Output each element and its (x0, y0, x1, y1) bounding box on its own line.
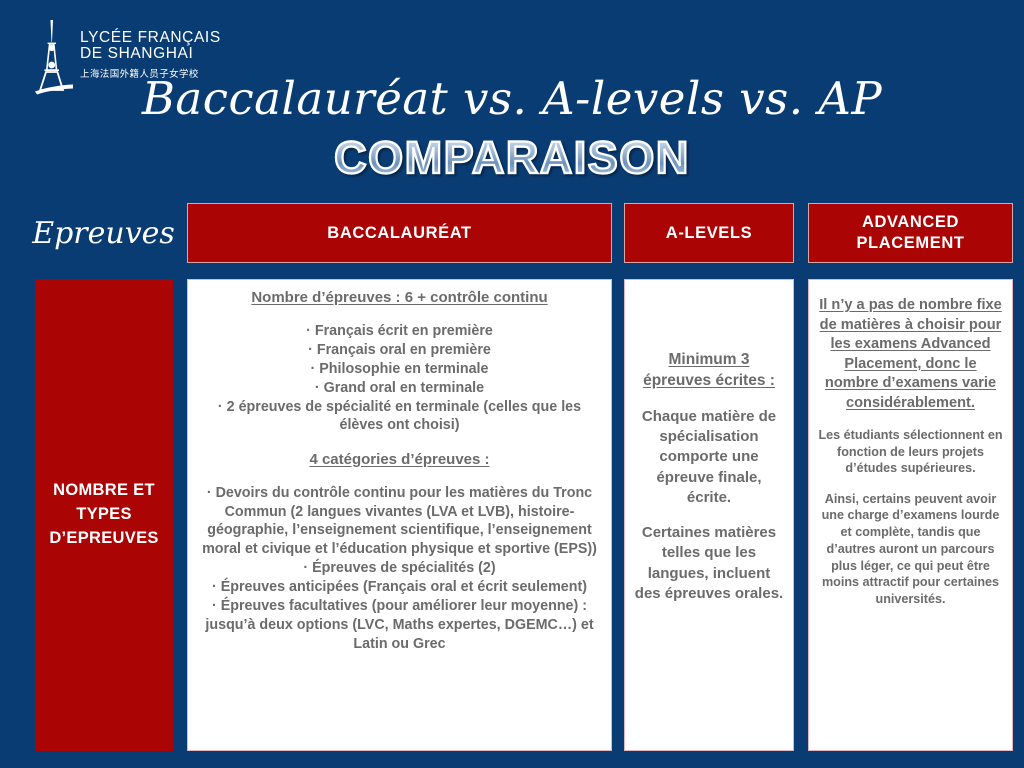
spacer (633, 392, 785, 407)
ap-heading: Il n’y a pas de nombre fixe de matières … (818, 296, 1003, 413)
bac-item-1: · Français écrit en première (196, 322, 603, 341)
cell-a-levels: Minimum 3 épreuves écrites : Chaque mati… (624, 279, 794, 751)
logo-line-1: LYCÉE FRANÇAIS (80, 30, 221, 46)
bac-cat-2: · Épreuves de spécialités (2) (196, 559, 603, 578)
bac-cat-3: · Épreuves anticipées (Français oral et … (196, 578, 603, 597)
spacer (818, 477, 1003, 491)
row-label-nombre-et-types-d-epreuves: NOMBRE ET TYPES D’EPREUVES (35, 279, 173, 751)
bac-item-3: · Philosophie en terminale (196, 360, 603, 379)
page-title: COMPARAISON (0, 132, 1024, 184)
alevels-paragraph-2: Certaines matières telles que les langue… (633, 523, 785, 604)
alevels-heading: Minimum 3 épreuves écrites : (633, 350, 785, 392)
corner-label-epreuves: Epreuves (26, 200, 181, 266)
bac-item-5: · 2 épreuves de spécialité en terminale … (196, 398, 603, 436)
spacer (196, 435, 603, 449)
spacer (818, 413, 1003, 427)
logo-wordmark: LYCÉE FRANÇAIS DE SHANGHAI 上海法国外籍人员子女学校 (80, 18, 221, 80)
bac-item-4: · Grand oral en terminale (196, 379, 603, 398)
bac-item-2: · Français oral en première (196, 341, 603, 360)
bac-cat-4: · Épreuves facultatives (pour améliorer … (196, 597, 603, 654)
bac-heading-1: Nombre d’épreuves : 6 + contrôle continu (196, 288, 603, 308)
ap-paragraph-1: Les étudiants sélectionnent en fonction … (818, 427, 1003, 477)
logo-line-2: DE SHANGHAI (80, 46, 221, 62)
column-header-baccalaureat: BACCALAURÉAT (187, 203, 612, 263)
spacer (196, 469, 603, 483)
column-header-a-levels: A-LEVELS (624, 203, 794, 263)
spacer (196, 308, 603, 322)
alevels-paragraph-1: Chaque matière de spécialisation comport… (633, 407, 785, 508)
spacer (633, 508, 785, 523)
ap-paragraph-2: Ainsi, certains peuvent avoir une charge… (818, 491, 1003, 608)
bac-cat-1: · Devoirs du contrôle continu pour les m… (196, 484, 603, 559)
cell-advanced-placement: Il n’y a pas de nombre fixe de matières … (808, 279, 1013, 751)
bac-heading-2: 4 catégories d’épreuves : (196, 450, 603, 470)
column-header-advanced-placement: ADVANCED PLACEMENT (808, 203, 1013, 263)
cell-baccalaureat: Nombre d’épreuves : 6 + contrôle continu… (187, 279, 612, 751)
page-subtitle: Baccalauréat vs. A-levels vs. AP (0, 72, 1024, 125)
